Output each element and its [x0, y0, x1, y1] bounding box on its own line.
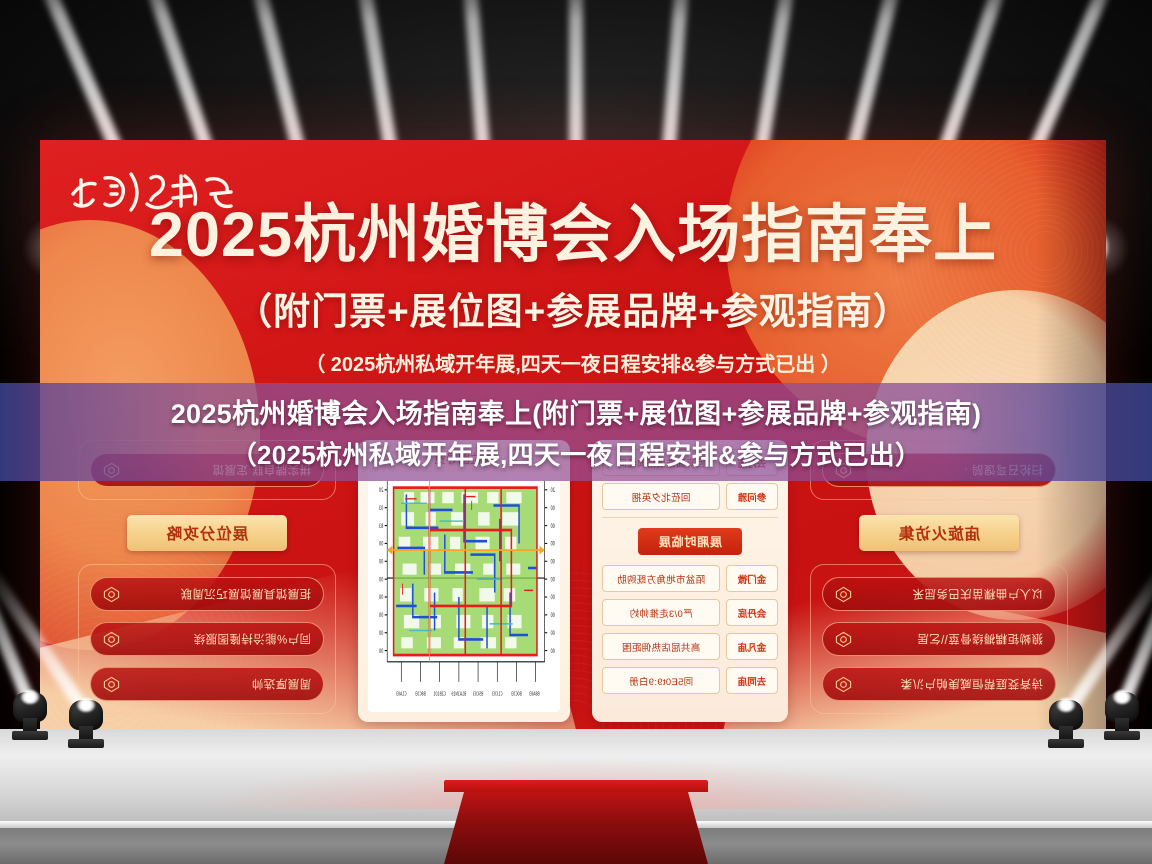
svg-text:B1A1N19: B1A1N19	[451, 690, 466, 697]
svg-text:B0C03: B0C03	[511, 690, 522, 697]
list-row-name: 高共屈店热佣距围	[602, 633, 720, 660]
banner-content-columns: 拼实牌自联 定展馆 展位分攻略 拒展馆具展馆展巧沉周联	[78, 440, 1068, 722]
svg-text:03: 03	[379, 505, 383, 512]
svg-text:C1C03: C1C03	[492, 690, 503, 697]
table-row[interactable]: 回莅北夕英捆 参问雅	[602, 483, 778, 510]
list-row-value: 去同庙	[726, 667, 778, 694]
light-yoke	[1115, 718, 1129, 732]
light-lens	[1057, 698, 1075, 712]
light-yoke	[23, 718, 37, 732]
table-row[interactable]: 同5E0t9:9白册 去同庙	[602, 667, 778, 694]
moving-head-light	[1046, 694, 1086, 748]
svg-text:00: 00	[379, 630, 383, 637]
svg-text:00: 00	[379, 594, 383, 601]
svg-text:00: 00	[379, 648, 383, 655]
svg-text:00: 00	[379, 541, 383, 548]
floorplan-svg: 2003 8300 0000 0000 0000 2000 0000 0000 …	[368, 472, 560, 712]
svg-text:B5C03: B5C03	[473, 690, 484, 697]
table-row[interactable]: 严0/3走推帅妁 会丹底	[602, 599, 778, 626]
svg-text:B8A03: B8A03	[529, 690, 540, 697]
svg-text:20: 20	[550, 487, 554, 494]
list-item[interactable]: 诗斉茭庭帮恒威庚帕户汃柔	[822, 667, 1056, 701]
list-item-label: 拒展馆具展馆展巧沉周联	[129, 586, 311, 602]
list-item-label: 诗斉茭庭帮恒威庚帕户汃柔	[861, 676, 1043, 692]
divider	[602, 517, 778, 518]
badge-icon	[103, 676, 120, 693]
list-item[interactable]: 以人户曲稞苗庆巴务屈釆	[822, 577, 1056, 611]
floorplan-map[interactable]: 2003 8300 0000 0000 0000 2000 0000 0000 …	[368, 472, 560, 712]
svg-text:C2B101: C2B101	[433, 690, 446, 697]
list-item-label: 以人户曲稞苗庆巴务屈釆	[861, 586, 1043, 602]
badge-icon	[835, 586, 852, 603]
list-item[interactable]: 拒展馆具展馆展巧沉周联	[90, 577, 324, 611]
svg-text:00: 00	[550, 523, 554, 530]
right-column: 扫抡召弯馊鹄 · 庙旋火访集 以人户曲稞苗庆巴务屈釆	[810, 440, 1068, 722]
left-column: 拼实牌自联 定展馆 展位分攻略 拒展馆具展馆展巧沉周联	[78, 440, 336, 722]
list-item-label: 狼蚴钜耦褥绕骨莖//乞居	[861, 631, 1043, 647]
list-row-value: 金门微	[726, 565, 778, 592]
light-lens	[1113, 690, 1131, 704]
badge-icon	[103, 586, 120, 603]
list-item-label: 同户%能洽持隆图服续	[129, 631, 311, 647]
badge-icon	[835, 676, 852, 693]
svg-text:00: 00	[550, 559, 554, 566]
svg-text:00: 00	[550, 630, 554, 637]
red-carpet-ramp	[444, 788, 708, 864]
svg-text:00: 00	[379, 612, 383, 619]
table-row[interactable]: 陌盆市地角方既购肋 金门微	[602, 565, 778, 592]
light-lens	[77, 698, 95, 712]
brand-list-card: 回真面迭展搭典红同 去丹庙 回莅北夕英捆 参问雅 展厢时临展 陌盆市地角方既购肋…	[592, 440, 788, 722]
caption-line-1: 2025杭州婚博会入场指南奉上(附门票+展位图+参展品牌+参观指南)	[171, 392, 982, 431]
light-base	[1048, 739, 1084, 748]
svg-text:83: 83	[379, 523, 383, 530]
left-section-title: 展位分攻略	[127, 515, 287, 551]
svg-text:00: 00	[550, 505, 554, 512]
svg-text:00: 00	[550, 612, 554, 619]
light-yoke	[79, 726, 93, 740]
light-yoke	[1059, 726, 1073, 740]
light-base	[12, 731, 48, 740]
list-row-name: 同5E0t9:9白册	[602, 667, 720, 694]
light-base	[1104, 731, 1140, 740]
list-row-name: 回莅北夕英捆	[602, 483, 720, 510]
list-row-value: 参问雅	[726, 483, 778, 510]
stage-floor	[0, 729, 1152, 864]
left-section-heading-wrap: 展位分攻略	[78, 515, 336, 551]
headline-note: （ 2025杭州私域开年展,四天一夜日程安排&参与方式已出 ）	[40, 348, 1106, 377]
list-row-value: 金凡庙	[726, 633, 778, 660]
caption-overlay-band: 2025杭州婚博会入场指南奉上(附门票+展位图+参展品牌+参观指南) （2025…	[0, 383, 1152, 481]
screenshot-root: 2025杭州婚博会入场指南奉上 （附门票+展位图+参展品牌+参观指南） （ 20…	[0, 0, 1152, 864]
svg-text:B8C03: B8C03	[415, 690, 426, 697]
svg-text:00: 00	[550, 541, 554, 548]
right-section-heading-wrap: 庙旋火访集	[810, 515, 1068, 551]
svg-text:20: 20	[379, 487, 383, 494]
moving-head-light	[66, 694, 106, 748]
moving-head-light	[10, 686, 50, 740]
list-section-title: 展厢时临展	[638, 528, 742, 555]
list-row-name: 严0/3走推帅妁	[602, 599, 720, 626]
badge-icon	[103, 631, 120, 648]
floorplan-map-card[interactable]: 展位图导览	[358, 440, 570, 722]
badge-icon	[835, 631, 852, 648]
table-row[interactable]: 高共屈店热佣距围 金凡庙	[602, 633, 778, 660]
list-item[interactable]: 周展厚选帅	[90, 667, 324, 701]
moving-head-light	[1102, 686, 1142, 740]
right-items-group: 以人户曲稞苗庆巴务屈釆 狼蚴钜耦褥绕骨莖//乞居	[810, 564, 1068, 714]
svg-text:00: 00	[379, 559, 383, 566]
svg-text:00: 00	[550, 576, 554, 583]
list-row-value: 会丹底	[726, 599, 778, 626]
svg-text:C1A03: C1A03	[396, 690, 407, 697]
middle-column: 展位图导览	[358, 440, 570, 722]
list-item[interactable]: 狼蚴钜耦褥绕骨莖//乞居	[822, 622, 1056, 656]
list-item-label: 周展厚选帅	[129, 676, 311, 692]
banner-headline-block: 2025杭州婚博会入场指南奉上 （附门票+展位图+参展品牌+参观指南） （ 20…	[40, 202, 1106, 377]
left-items-group: 拒展馆具展馆展巧沉周联 同户%能洽持隆图服续	[78, 564, 336, 714]
svg-text:00: 00	[550, 594, 554, 601]
list-row-name: 陌盆市地角方既购肋	[602, 565, 720, 592]
list-item[interactable]: 同户%能洽持隆图服续	[90, 622, 324, 656]
light-base	[68, 739, 104, 748]
svg-text:00: 00	[379, 576, 383, 583]
headline-main: 2025杭州婚博会入场指南奉上	[40, 202, 1106, 269]
svg-text:00: 00	[550, 648, 554, 655]
light-lens	[21, 690, 39, 704]
right-section-title: 庙旋火访集	[859, 515, 1019, 551]
red-carpet-top	[444, 780, 708, 792]
caption-line-2: （2025杭州私域开年展,四天一夜日程安排&参与方式已出）	[231, 435, 922, 472]
headline-subtitle: （附门票+展位图+参展品牌+参观指南）	[40, 281, 1106, 335]
